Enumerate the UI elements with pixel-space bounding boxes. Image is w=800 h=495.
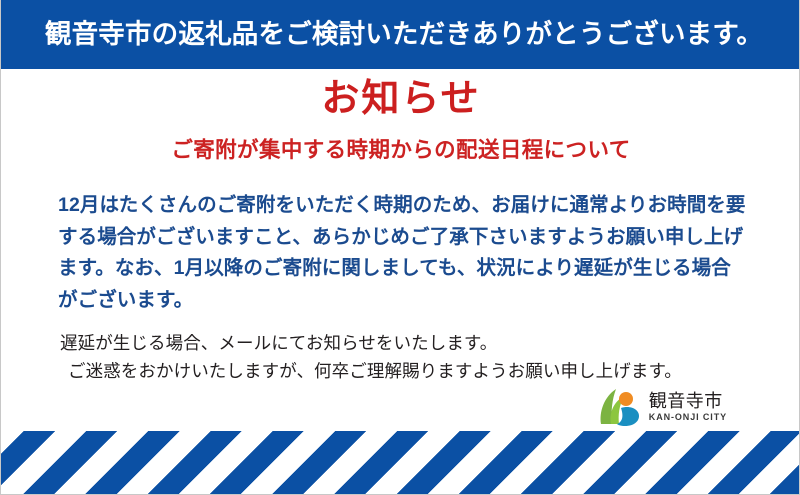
notice-paragraph-emphasis: 12月はたくさんのご寄附をいただく時期のため、お届けに通常よりお時間を要する場合… [58,190,748,316]
city-name-jp: 観音寺市 [649,392,727,410]
notice-plain-line-1: 遅延が生じる場合、メールにてお知らせをいたします。 [60,333,497,353]
striped-footer-band [1,431,800,494]
body-text-block: 12月はたくさんのご寄附をいただく時期のため、お届けに通常よりお時間を要する場合… [58,190,748,386]
notice-paragraph-plain: 遅延が生じる場合、メールにてお知らせをいたします。 ご迷惑をおかけいたしますが、… [58,330,748,385]
header-banner: 観音寺市の返礼品をご検討いただきありがとうございます。 [1,0,800,69]
notice-plain-line-2: ご迷惑をおかけいたしますが、何卒ご理解賜りますようお願い申し上げます。 [60,358,748,386]
page-title: お知らせ [1,78,800,122]
city-logo-text: 観音寺市 KAN-ONJI CITY [649,392,727,422]
city-name-en: KAN-ONJI CITY [649,413,727,422]
notice-card: 観音寺市の返礼品をご検討いただきありがとうございます。 お知らせ ご寄附が集中す… [0,0,800,495]
header-banner-text: 観音寺市の返礼品をご検討いただきありがとうございます。 [39,21,763,48]
kanonji-logo-icon [597,386,643,428]
page-subtitle: ご寄附が集中する時期からの配送日程について [1,138,800,164]
city-logo: 観音寺市 KAN-ONJI CITY [597,386,727,428]
